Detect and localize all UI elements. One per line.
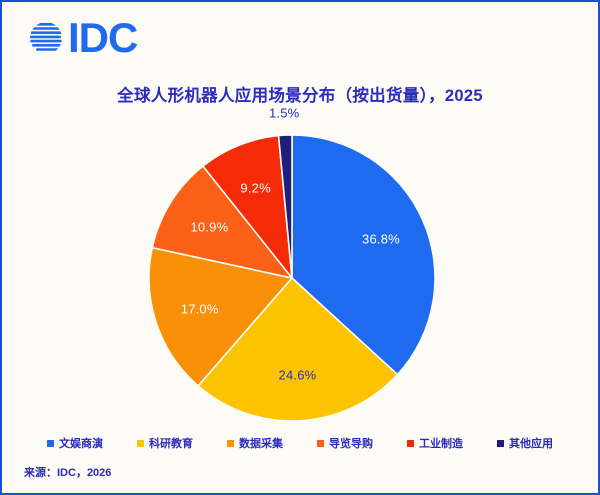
pie-slice-label: 10.9% bbox=[190, 219, 228, 234]
globe-icon bbox=[26, 18, 66, 58]
legend-swatch bbox=[497, 440, 504, 447]
page-title: 全球人形机器人应用场景分布（按出货量），2025 bbox=[2, 82, 598, 106]
pie-slice bbox=[198, 278, 397, 421]
legend-item[interactable]: 导览导购 bbox=[317, 435, 373, 451]
pie-slice bbox=[152, 166, 292, 278]
legend-label: 工业制造 bbox=[419, 435, 463, 451]
pie-slice-label: 1.5% bbox=[269, 106, 299, 121]
pie-slice-label: 9.2% bbox=[240, 180, 270, 195]
legend-label: 数据采集 bbox=[239, 435, 283, 451]
legend-item[interactable]: 文娱商演 bbox=[47, 435, 103, 451]
legend-item[interactable]: 科研教育 bbox=[137, 435, 193, 451]
pie-svg bbox=[145, 131, 439, 425]
pie-slice-label: 17.0% bbox=[181, 301, 219, 316]
legend-swatch bbox=[317, 440, 324, 447]
legend-item[interactable]: 工业制造 bbox=[407, 435, 463, 451]
legend-swatch bbox=[137, 440, 144, 447]
legend-swatch bbox=[47, 440, 54, 447]
legend-label: 科研教育 bbox=[149, 435, 193, 451]
idc-logo-text: IDC bbox=[68, 17, 137, 59]
pie-chart: 36.8%24.6%17.0%10.9%9.2%1.5% bbox=[2, 2, 598, 493]
legend-item[interactable]: 其他应用 bbox=[497, 435, 553, 451]
pie-slice bbox=[292, 135, 435, 375]
source-note: 来源：IDC，2026 bbox=[24, 464, 111, 480]
legend-label: 其他应用 bbox=[509, 435, 553, 451]
slide-canvas: IDC 全球人形机器人应用场景分布（按出货量），2025 36.8%24.6%1… bbox=[2, 2, 598, 493]
chart-legend: 文娱商演科研教育数据采集导览导购工业制造其他应用 bbox=[2, 435, 598, 451]
pie-slice bbox=[203, 136, 292, 278]
legend-item[interactable]: 数据采集 bbox=[227, 435, 283, 451]
idc-logo: IDC bbox=[26, 16, 137, 60]
legend-label: 导览导购 bbox=[329, 435, 373, 451]
legend-swatch bbox=[407, 440, 414, 447]
pie-slice bbox=[149, 248, 292, 386]
pie-slice-label: 24.6% bbox=[279, 368, 317, 383]
legend-swatch bbox=[227, 440, 234, 447]
pie-slice bbox=[279, 135, 292, 278]
legend-label: 文娱商演 bbox=[59, 435, 103, 451]
pie-slice-label: 36.8% bbox=[362, 231, 400, 246]
